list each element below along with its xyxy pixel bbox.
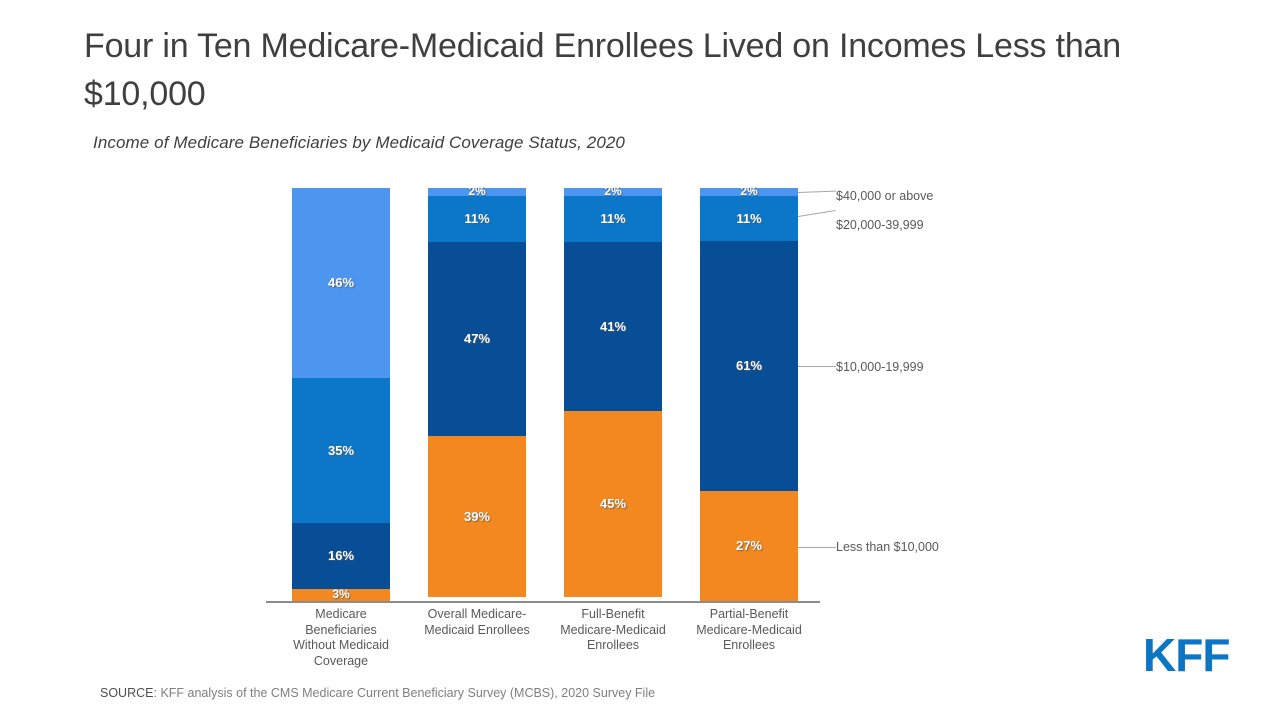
bar-segment-less-than-10k[interactable]: 27%: [700, 491, 798, 601]
category-label: Full-Benefit Medicare-Medicaid Enrollees: [538, 607, 688, 654]
bar-segment-10k-20k[interactable]: 41%: [564, 242, 662, 411]
category-label-line: Medicare-Medicaid: [674, 623, 824, 639]
kff-logo: KFF: [1143, 632, 1229, 678]
bar-segment-10k-20k[interactable]: 16%: [292, 523, 390, 589]
bar-segment-label: 11%: [600, 212, 625, 225]
x-axis-line: [266, 601, 820, 603]
callout-leader-line: [798, 547, 836, 548]
bar-segment-label: 61%: [736, 359, 762, 372]
category-label: Overall Medicare- Medicaid Enrollees: [402, 607, 552, 638]
bar-segment-label: 16%: [328, 549, 354, 562]
bar-segment-less-than-10k[interactable]: 45%: [564, 411, 662, 597]
bar-segment-label: 39%: [464, 510, 490, 523]
category-label-line: Partial-Benefit: [674, 607, 824, 623]
category-label-line: Full-Benefit: [538, 607, 688, 623]
bar-segment-less-than-10k[interactable]: 3%: [292, 589, 390, 601]
category-label-line: Medicare: [266, 607, 416, 623]
bar-segment-label: 47%: [464, 332, 490, 345]
category-label-line: Without Medicaid: [266, 638, 416, 654]
category-label: Medicare Beneficiaries Without Medicaid …: [266, 607, 416, 669]
chart-subtitle: Income of Medicare Beneficiaries by Medi…: [93, 133, 625, 153]
callout-leader-line: [798, 191, 836, 193]
callout-label-10k-20k: $10,000-19,999: [836, 360, 924, 374]
bar-segment-40k-plus[interactable]: 2%: [428, 188, 526, 196]
bar-column-overall-medicare-medicaid-enrollees: 2% 11% 47% 39%: [428, 188, 526, 601]
bar-segment-label: 41%: [600, 320, 626, 333]
bar-segment-20k-40k[interactable]: 35%: [292, 378, 390, 523]
bar-segment-label: 45%: [600, 497, 626, 510]
callout-label-20k-40k: $20,000-39,999: [836, 218, 924, 232]
category-label-line: Medicare-Medicaid: [538, 623, 688, 639]
callout-leader-line: [798, 366, 836, 367]
bar-segment-20k-40k[interactable]: 11%: [428, 196, 526, 241]
bar-segment-10k-20k[interactable]: 47%: [428, 242, 526, 436]
bar-column-medicare-beneficiaries-without-medicaid: 46% 35% 16% 3%: [292, 188, 390, 601]
bar-segment-20k-40k[interactable]: 11%: [564, 196, 662, 241]
page-title: Four in Ten Medicare-Medicaid Enrollees …: [84, 22, 1174, 118]
chart-plot-area: 46% 35% 16% 3% 2% 11% 47% 39% 2% 11%: [266, 186, 820, 603]
category-label-line: Enrollees: [538, 638, 688, 654]
bar-segment-40k-plus[interactable]: 46%: [292, 188, 390, 378]
source-keyword: SOURCE: [100, 686, 153, 700]
bar-segment-label: 46%: [328, 276, 354, 289]
bar-segment-label: 3%: [332, 588, 349, 600]
category-label-line: Coverage: [266, 654, 416, 670]
bar-segment-label: 27%: [736, 539, 762, 552]
bar-segment-less-than-10k[interactable]: 39%: [428, 436, 526, 597]
category-label-line: Overall Medicare-: [402, 607, 552, 623]
category-label-line: Beneficiaries: [266, 623, 416, 639]
x-axis-category-labels: Medicare Beneficiaries Without Medicaid …: [266, 607, 820, 677]
bar-segment-label: 11%: [736, 212, 761, 225]
bar-segment-label: 35%: [328, 444, 354, 457]
callout-leader-line: [798, 210, 836, 217]
source-text: KFF analysis of the CMS Medicare Current…: [160, 686, 655, 700]
callout-label-less-than-10k: Less than $10,000: [836, 540, 939, 554]
bar-column-partial-benefit-medicare-medicaid-enrollees: 2% 11% 61% 27%: [700, 188, 798, 601]
category-label: Partial-Benefit Medicare-Medicaid Enroll…: [674, 607, 824, 654]
bar-column-full-benefit-medicare-medicaid-enrollees: 2% 11% 41% 45%: [564, 188, 662, 601]
bar-segment-label: 11%: [464, 212, 489, 225]
category-label-line: Medicaid Enrollees: [402, 623, 552, 639]
source-note: SOURCE: KFF analysis of the CMS Medicare…: [100, 686, 655, 700]
callout-label-40k-plus: $40,000 or above: [836, 189, 933, 203]
bar-segment-20k-40k[interactable]: 11%: [700, 196, 798, 241]
legend-callouts: $40,000 or above $20,000-39,999 $10,000-…: [798, 180, 1128, 580]
category-label-line: Enrollees: [674, 638, 824, 654]
bar-segment-10k-20k[interactable]: 61%: [700, 241, 798, 490]
bar-segment-40k-plus[interactable]: 2%: [564, 188, 662, 196]
bar-segment-40k-plus[interactable]: 2%: [700, 188, 798, 196]
